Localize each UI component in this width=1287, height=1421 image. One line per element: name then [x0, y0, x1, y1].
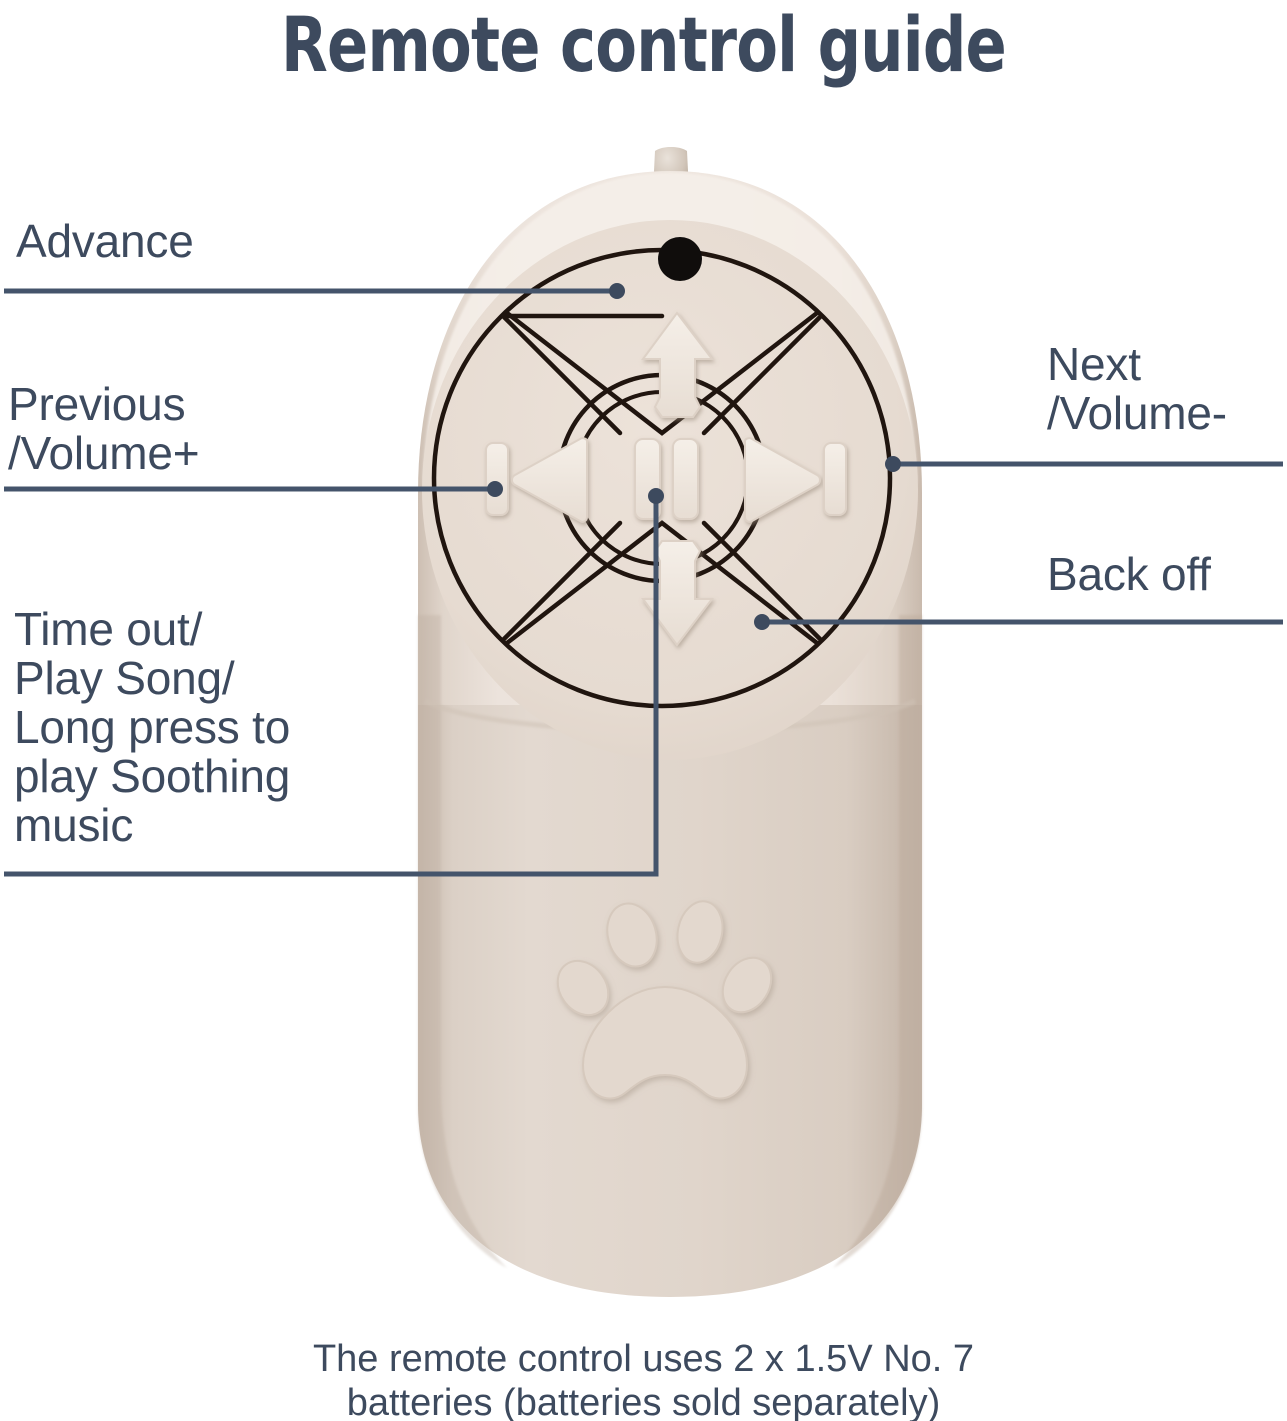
callout-label-next: Next /Volume-: [1047, 340, 1227, 438]
remote-control-guide-page: Remote control guide: [0, 0, 1287, 1421]
callout-label-previous: Previous /Volume+: [8, 380, 199, 478]
page-title: Remote control guide: [129, 2, 1159, 88]
callout-label-advance: Advance: [16, 217, 194, 266]
ir-led-dot: [658, 237, 702, 281]
callout-label-backoff: Back off: [1047, 550, 1211, 599]
battery-caption: The remote control uses 2 x 1.5V No. 7 b…: [0, 1337, 1287, 1421]
callout-label-timeout: Time out/ Play Song/ Long press to play …: [14, 605, 290, 850]
remote-control-illustration: [355, 145, 985, 1310]
